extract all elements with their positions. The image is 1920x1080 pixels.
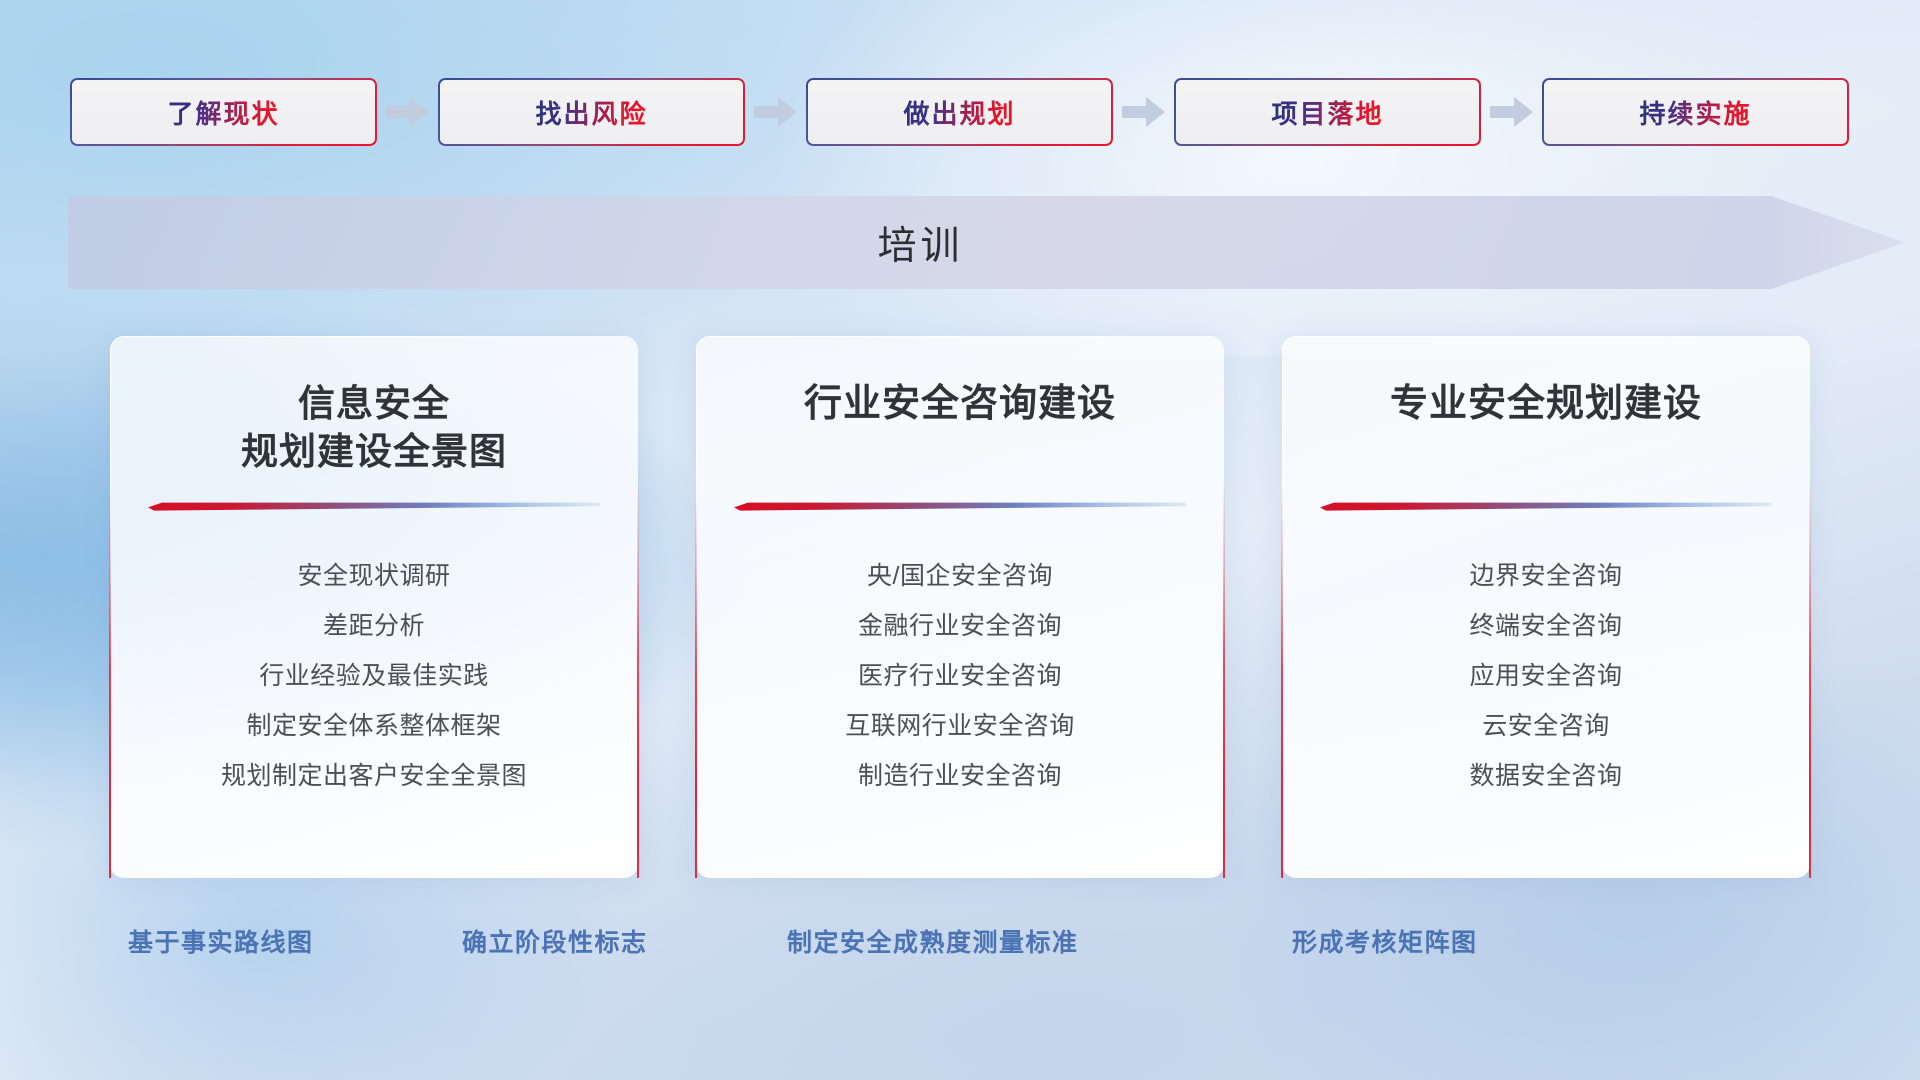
step-box-1[interactable]: 了解现状 — [70, 78, 377, 146]
caption-2: 确立阶段性标志 — [462, 918, 648, 964]
card-1-divider — [148, 502, 600, 511]
list-item: 规划制定出客户安全全景图 — [221, 751, 527, 801]
card-1-title-line-2: 规划建设全景图 — [241, 428, 507, 476]
list-item: 互联网行业安全咨询 — [845, 701, 1075, 751]
card-1-item-list: 安全现状调研 差距分析 行业经验及最佳实践 制定安全体系整体框架 规划制定出客户… — [144, 551, 604, 801]
step-box-3[interactable]: 做出规划 — [806, 78, 1113, 146]
list-item: 行业经验及最佳实践 — [259, 651, 489, 701]
step-label-4: 项目落地 — [1271, 94, 1383, 131]
list-item: 差距分析 — [323, 601, 425, 651]
process-step-row: 了解现状 找出风险 做出规划 项目落地 — [70, 78, 1850, 146]
card-2-item-list: 央/国企安全咨询 金融行业安全咨询 医疗行业安全咨询 互联网行业安全咨询 制造行… — [730, 551, 1190, 801]
step-label-3: 做出规划 — [903, 94, 1015, 131]
step-label-5: 持续实施 — [1639, 94, 1751, 131]
list-item: 医疗行业安全咨询 — [858, 651, 1062, 701]
training-band-label: 培训 — [68, 196, 1773, 289]
step-arrow-4 — [1481, 78, 1542, 146]
list-item: 央/国企安全咨询 — [867, 551, 1053, 601]
card-2-divider — [734, 502, 1186, 511]
card-1-title-line-1: 信息安全 — [241, 380, 507, 428]
card-3-title: 专业安全规划建设 — [1390, 380, 1702, 429]
list-item: 安全现状调研 — [297, 551, 450, 601]
step-box-2[interactable]: 找出风险 — [438, 78, 745, 146]
card-professional-security-planning[interactable]: 专业安全规划建设 — [1282, 336, 1810, 878]
caption-row: 基于事实路线图 确立阶段性标志 制定安全成熟度测量标准 形成考核矩阵图 — [0, 918, 1920, 964]
slide-stage: 了解现状 找出风险 做出规划 项目落地 — [0, 0, 1920, 1080]
caption-1: 基于事实路线图 — [128, 918, 314, 964]
card-row: 信息安全 规划建设全景图 — [110, 336, 1810, 878]
caption-3: 制定安全成熟度测量标准 — [787, 918, 1079, 964]
step-box-4[interactable]: 项目落地 — [1174, 78, 1481, 146]
list-item: 云安全咨询 — [1482, 701, 1610, 751]
card-1-title: 信息安全 规划建设全景图 — [241, 380, 507, 476]
training-band: 培训 — [68, 196, 1858, 289]
training-band-arrowhead-icon — [1771, 177, 1907, 308]
list-item: 边界安全咨询 — [1469, 551, 1622, 601]
list-item: 金融行业安全咨询 — [858, 601, 1062, 651]
step-label-2: 找出风险 — [535, 94, 647, 131]
step-label-1: 了解现状 — [167, 94, 279, 131]
card-3-item-list: 边界安全咨询 终端安全咨询 应用安全咨询 云安全咨询 数据安全咨询 — [1316, 551, 1776, 801]
step-arrow-2 — [745, 78, 806, 146]
list-item: 制定安全体系整体框架 — [246, 701, 501, 751]
step-arrow-3 — [1113, 78, 1174, 146]
step-box-5[interactable]: 持续实施 — [1542, 78, 1849, 146]
card-3-title-line-1: 专业安全规划建设 — [1390, 380, 1702, 429]
card-2-title: 行业安全咨询建设 — [804, 380, 1116, 429]
card-2-title-line-1: 行业安全咨询建设 — [804, 380, 1116, 429]
card-industry-security-consulting[interactable]: 行业安全咨询建设 — [696, 336, 1224, 878]
card-3-divider — [1320, 502, 1772, 511]
list-item: 数据安全咨询 — [1469, 751, 1622, 801]
list-item: 终端安全咨询 — [1469, 601, 1622, 651]
list-item: 应用安全咨询 — [1469, 651, 1622, 701]
step-arrow-1 — [377, 78, 438, 146]
list-item: 制造行业安全咨询 — [858, 751, 1062, 801]
caption-4: 形成考核矩阵图 — [1292, 918, 1478, 964]
card-information-security-blueprint[interactable]: 信息安全 规划建设全景图 — [110, 336, 638, 878]
